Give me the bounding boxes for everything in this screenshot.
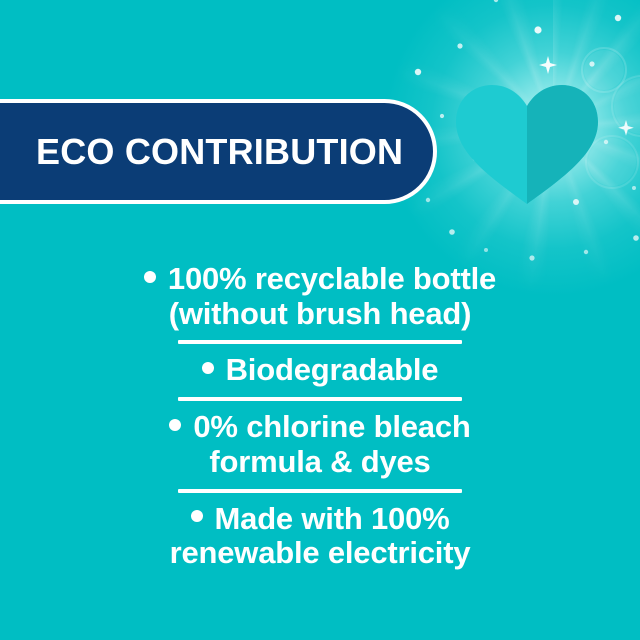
claim-item: Biodegradable	[0, 353, 640, 388]
claim-line-1: 100% recyclable bottle	[168, 261, 496, 296]
claim-item: 100% recyclable bottle (without brush he…	[0, 262, 640, 331]
claim-divider	[178, 340, 462, 344]
bullet-icon	[144, 271, 156, 283]
claim-line-2: formula & dyes	[40, 445, 600, 480]
claim-line-2: (without brush head)	[40, 297, 600, 332]
claim-line-1: 0% chlorine bleach	[193, 409, 470, 444]
claim-item: 0% chlorine bleach formula & dyes	[0, 410, 640, 479]
eco-contribution-card: ECO CONTRIBUTION 100% recyclable bottle …	[0, 0, 640, 640]
eco-contribution-banner: ECO CONTRIBUTION	[0, 99, 437, 204]
bullet-icon	[202, 362, 214, 374]
banner-title: ECO CONTRIBUTION	[36, 131, 403, 173]
bullet-icon	[169, 419, 181, 431]
claim-line-1: Made with 100%	[215, 501, 450, 536]
eco-claims-list: 100% recyclable bottle (without brush he…	[0, 262, 640, 571]
claim-line-1: Biodegradable	[226, 352, 439, 387]
claim-line-2: renewable electricity	[40, 536, 600, 571]
claim-divider	[178, 397, 462, 401]
bullet-icon	[191, 510, 203, 522]
claim-divider	[178, 489, 462, 493]
claim-item: Made with 100% renewable electricity	[0, 502, 640, 571]
